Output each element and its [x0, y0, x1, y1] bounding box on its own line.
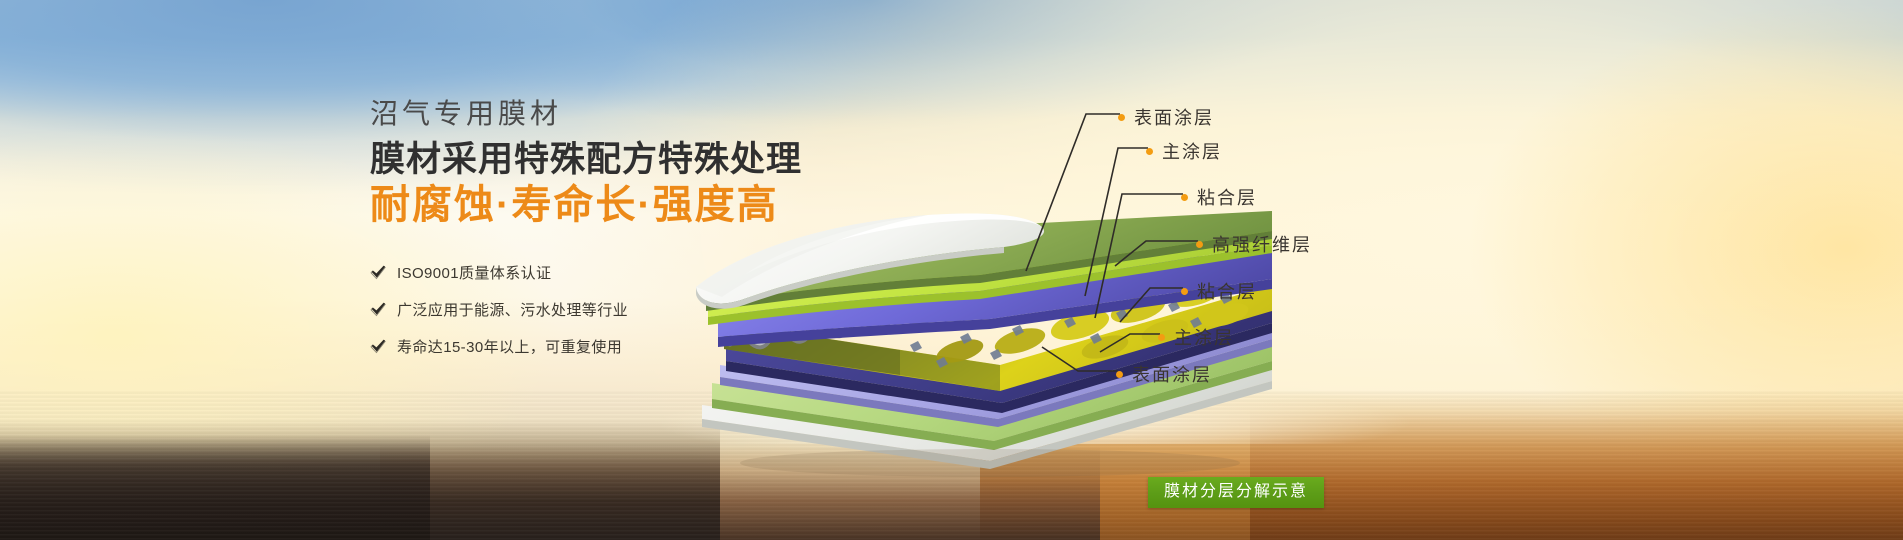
callout-dot-icon: [1146, 148, 1153, 155]
callout-surface-coat-bottom: 表面涂层: [1116, 361, 1212, 387]
callout-dot-icon: [1116, 371, 1123, 378]
callout-label: 主涂层: [1174, 324, 1234, 350]
callout-label: 粘合层: [1197, 278, 1257, 304]
diagram-caption-badge: 膜材分层分解示意: [1148, 477, 1324, 508]
callout-label-group: 表面涂层 主涂层 粘合层 高强纤维层 粘合层 主涂层 表面涂层: [0, 0, 1903, 540]
callout-label: 表面涂层: [1134, 104, 1214, 130]
callout-label: 主涂层: [1162, 138, 1222, 164]
callout-high-strength-fiber: 高强纤维层: [1196, 231, 1312, 257]
callout-adhesive-bottom: 粘合层: [1181, 278, 1257, 304]
callout-main-coat-top: 主涂层: [1146, 138, 1222, 164]
callout-label: 表面涂层: [1132, 361, 1212, 387]
callout-main-coat-bottom: 主涂层: [1158, 324, 1234, 350]
callout-adhesive-top: 粘合层: [1181, 184, 1257, 210]
callout-dot-icon: [1181, 194, 1188, 201]
callout-dot-icon: [1196, 241, 1203, 248]
product-banner: 沼气专用膜材 膜材采用特殊配方特殊处理 耐腐蚀·寿命长·强度高 ISO9001质…: [0, 0, 1903, 540]
callout-label: 粘合层: [1197, 184, 1257, 210]
callout-label: 高强纤维层: [1212, 231, 1312, 257]
callout-dot-icon: [1181, 288, 1188, 295]
callout-dot-icon: [1118, 114, 1125, 121]
callout-surface-coat-top: 表面涂层: [1118, 104, 1214, 130]
callout-dot-icon: [1158, 334, 1165, 341]
